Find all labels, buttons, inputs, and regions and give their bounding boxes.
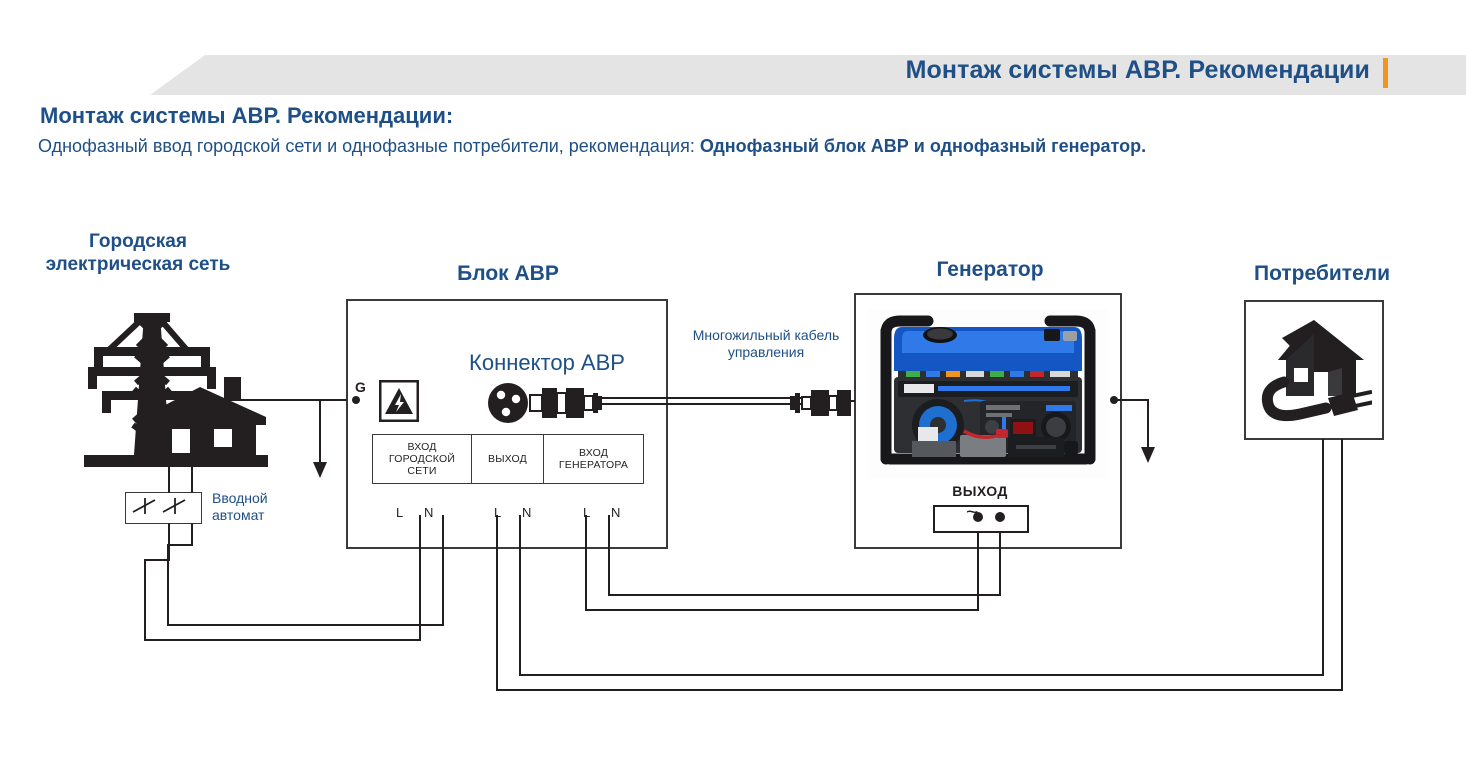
intro-paragraph: Однофазный ввод городской сети и однофаз… [38,132,1398,160]
house-icon [140,375,268,470]
terminal-generator-input[interactable]: ВХОД ГЕНЕРАТОРА [544,434,644,484]
pin-label-out-n: N [522,505,531,520]
pin-label-mains-l: L [396,505,403,520]
label-ats-block: Блок АВР [408,262,608,286]
ats-connector-socket-icon [487,382,607,424]
label-main-breaker: Вводной автомат [212,490,302,524]
high-voltage-hazard-icon [379,380,419,422]
label-generator: Генератор [890,258,1090,282]
diagram-stage: Монтаж системы АВР. Рекомендации Монтаж … [0,0,1466,780]
header-accent-bar [1383,58,1388,88]
label-city-grid: Городская электрическая сеть [18,230,258,276]
pin-label-gen-n: N [611,505,620,520]
house-with-plug-icon [1256,312,1372,428]
ground-terminal-label: G [355,379,366,395]
intro-plain-text: Однофазный ввод городской сети и однофаз… [38,136,700,156]
label-generator-output: ВЫХОД [905,483,1055,499]
pin-label-gen-l: L [583,505,590,520]
label-control-cable: Многожильный кабель управления [676,327,856,361]
ac-symbol: ~ [966,503,978,523]
generator-photo [868,309,1108,479]
label-ats-connector: Коннектор АВР [432,350,662,376]
terminal-output[interactable]: ВЫХОД [472,434,544,484]
control-cable-connector-icon [790,388,852,418]
label-consumers: Потребители [1222,262,1422,286]
header-title: Монтаж системы АВР. Рекомендации [906,56,1370,85]
pin-label-out-l: L [494,505,501,520]
pin-label-mains-n: N [424,505,433,520]
generator-output-socket [933,505,1029,533]
breaker-contacts-icon [125,492,202,524]
terminal-mains-input[interactable]: ВХОД ГОРОДСКОЙ СЕТИ [372,434,472,484]
page-title: Монтаж системы АВР. Рекомендации: [40,103,453,129]
intro-bold-text: Однофазный блок АВР и однофазный генерат… [700,136,1146,156]
ats-terminal-row: ВХОД ГОРОДСКОЙ СЕТИ ВЫХОД ВХОД ГЕНЕРАТОР… [372,434,644,484]
